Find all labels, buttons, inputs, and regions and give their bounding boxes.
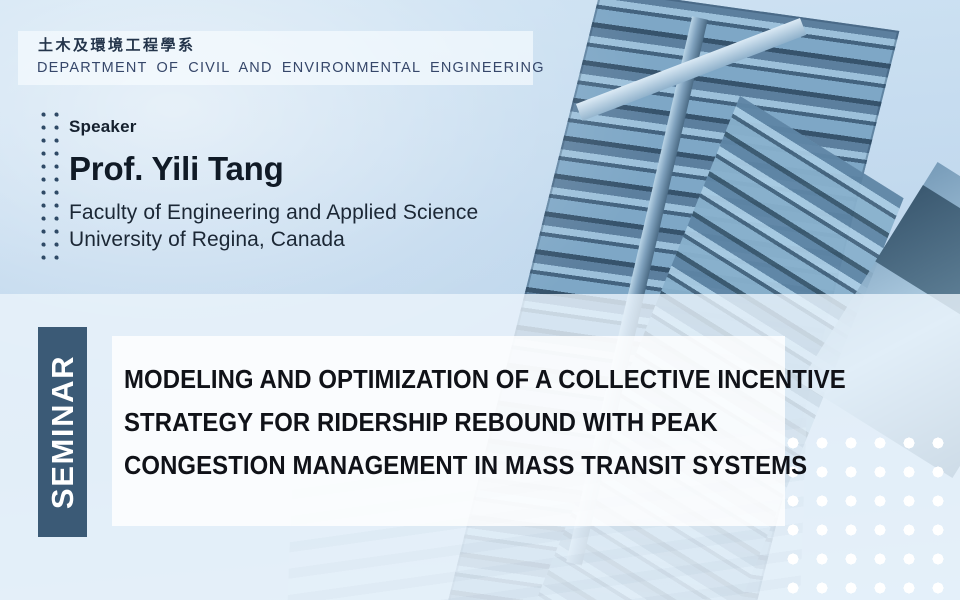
seminar-title: MODELING AND OPTIMIZATION OF A COLLECTIV… [124,358,784,487]
seminar-tab-label: SEMINAR [45,355,81,509]
department-name-chinese: 土木及環境工程學系 [38,34,196,55]
seminar-title-line: MODELING AND OPTIMIZATION OF A COLLECTIV… [124,358,731,401]
department-name-english: DEPARTMENT OF CIVIL AND ENVIRONMENTAL EN… [37,60,545,76]
speaker-affiliation-faculty: Faculty of Engineering and Applied Scien… [69,201,478,225]
seminar-tab: SEMINAR [38,327,87,537]
seminar-title-line: CONGESTION MANAGEMENT IN MASS TRANSIT SY… [124,444,731,487]
seminar-title-line: STRATEGY FOR RIDERSHIP REBOUND WITH PEAK [124,401,731,444]
corner-dots-icon [786,436,960,600]
speaker-affiliation-university: University of Regina, Canada [69,228,345,252]
speaker-name: Prof. Yili Tang [69,150,284,188]
seminar-poster: 土木及環境工程學系 DEPARTMENT OF CIVIL AND ENVIRO… [0,0,960,600]
speaker-dots-icon [41,112,60,260]
speaker-label: Speaker [69,117,137,137]
